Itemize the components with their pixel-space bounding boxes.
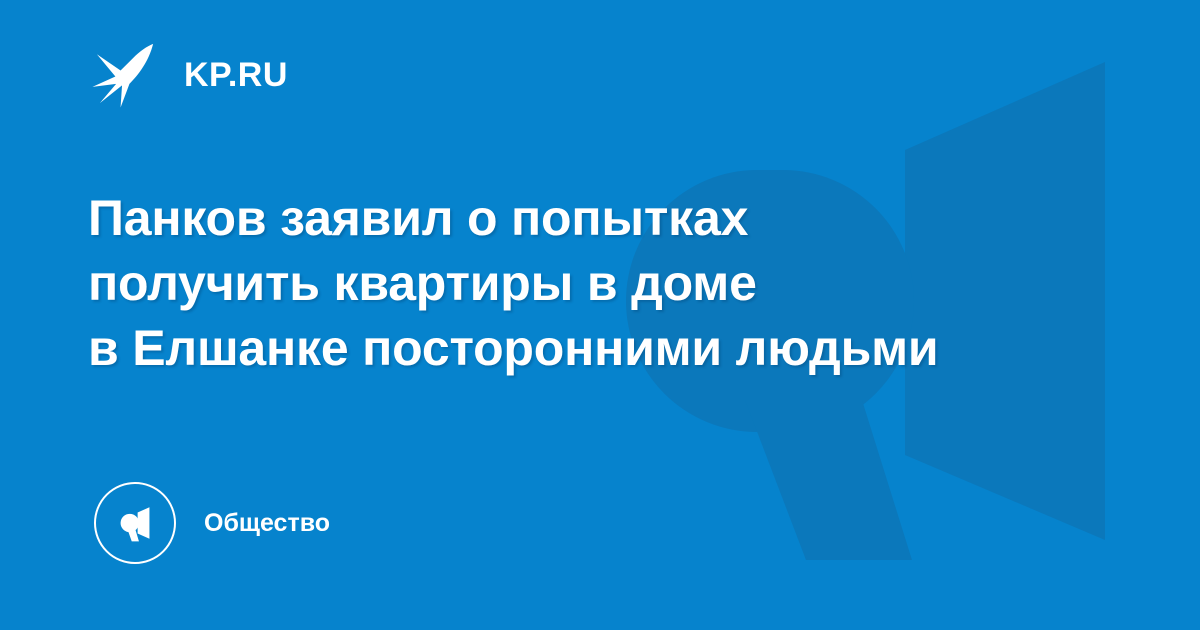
share-card: KP.RU Панков заявил о попытках получить … [0,0,1200,630]
headline-line-3: в Елшанке посторонними людьми [88,316,1128,381]
category-icon-circle [94,482,176,564]
page-title: Панков заявил о попытках получить кварти… [88,186,1128,381]
megaphone-icon [114,502,156,544]
category-badge[interactable]: Общество [94,482,330,564]
swallow-bird-icon [88,38,162,112]
headline-line-1: Панков заявил о попытках [88,186,1128,251]
category-label: Общество [204,511,330,536]
brand-name: KP.RU [184,58,288,92]
brand-header: KP.RU [88,38,288,112]
headline-line-2: получить квартиры в доме [88,251,1128,316]
